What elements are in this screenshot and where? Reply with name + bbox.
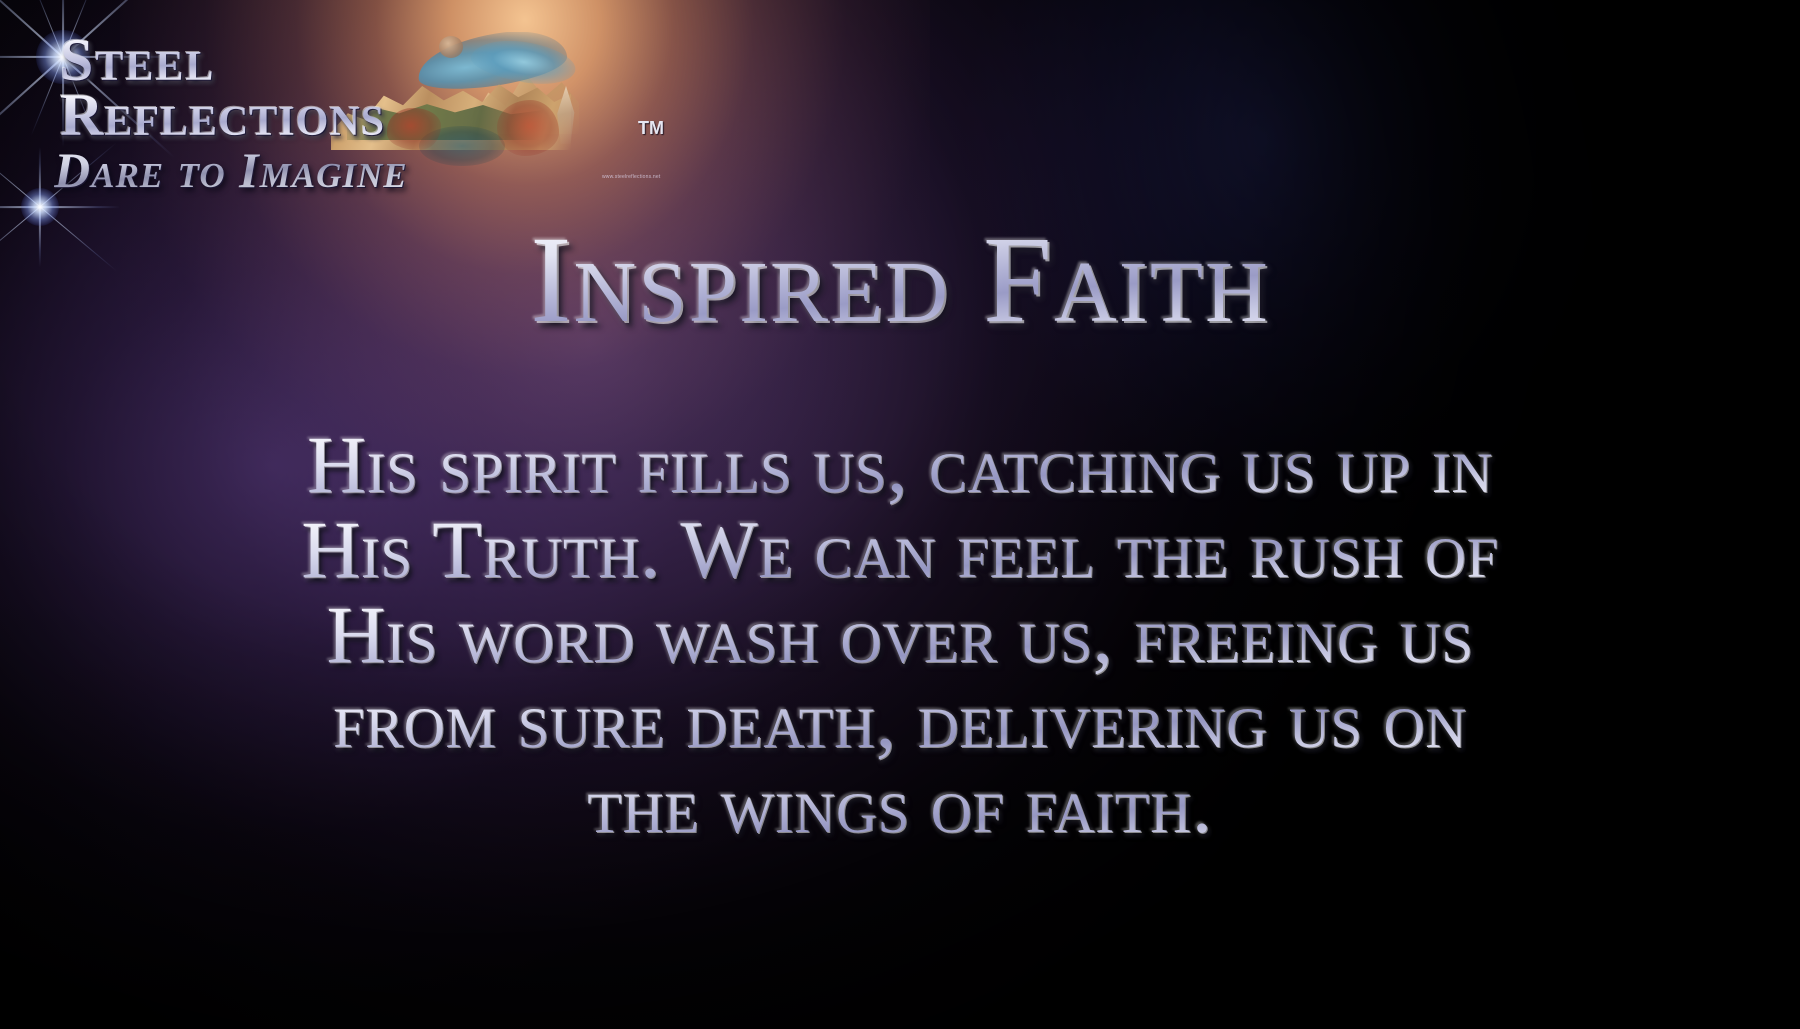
logo-line-reflections: Reflections [60, 81, 385, 150]
body-line: from sure death, delivering us on [0, 677, 1800, 762]
body-line: His word wash over us, freeing us [0, 592, 1800, 677]
moon-shape [439, 36, 463, 58]
trademark-symbol: TM [638, 118, 664, 139]
brand-logo: Steel Reflections Dare to Imagine TM www… [46, 26, 666, 216]
body-line: His spirit fills us, catching us up in [0, 422, 1800, 507]
body-line: the wings of faith. [0, 762, 1800, 847]
slide-canvas: Steel Reflections Dare to Imagine TM www… [0, 0, 1800, 1029]
logo-tagline: Dare to Imagine [54, 141, 408, 199]
slide-body-text: His spirit fills us, catching us up in H… [0, 422, 1800, 847]
foliage-shape [497, 100, 559, 156]
logo-website-smallprint: www.steelreflections.net [602, 174, 660, 180]
body-line: His Truth. We can feel the rush of [0, 507, 1800, 592]
slide-title: Inspired Faith [0, 218, 1800, 342]
